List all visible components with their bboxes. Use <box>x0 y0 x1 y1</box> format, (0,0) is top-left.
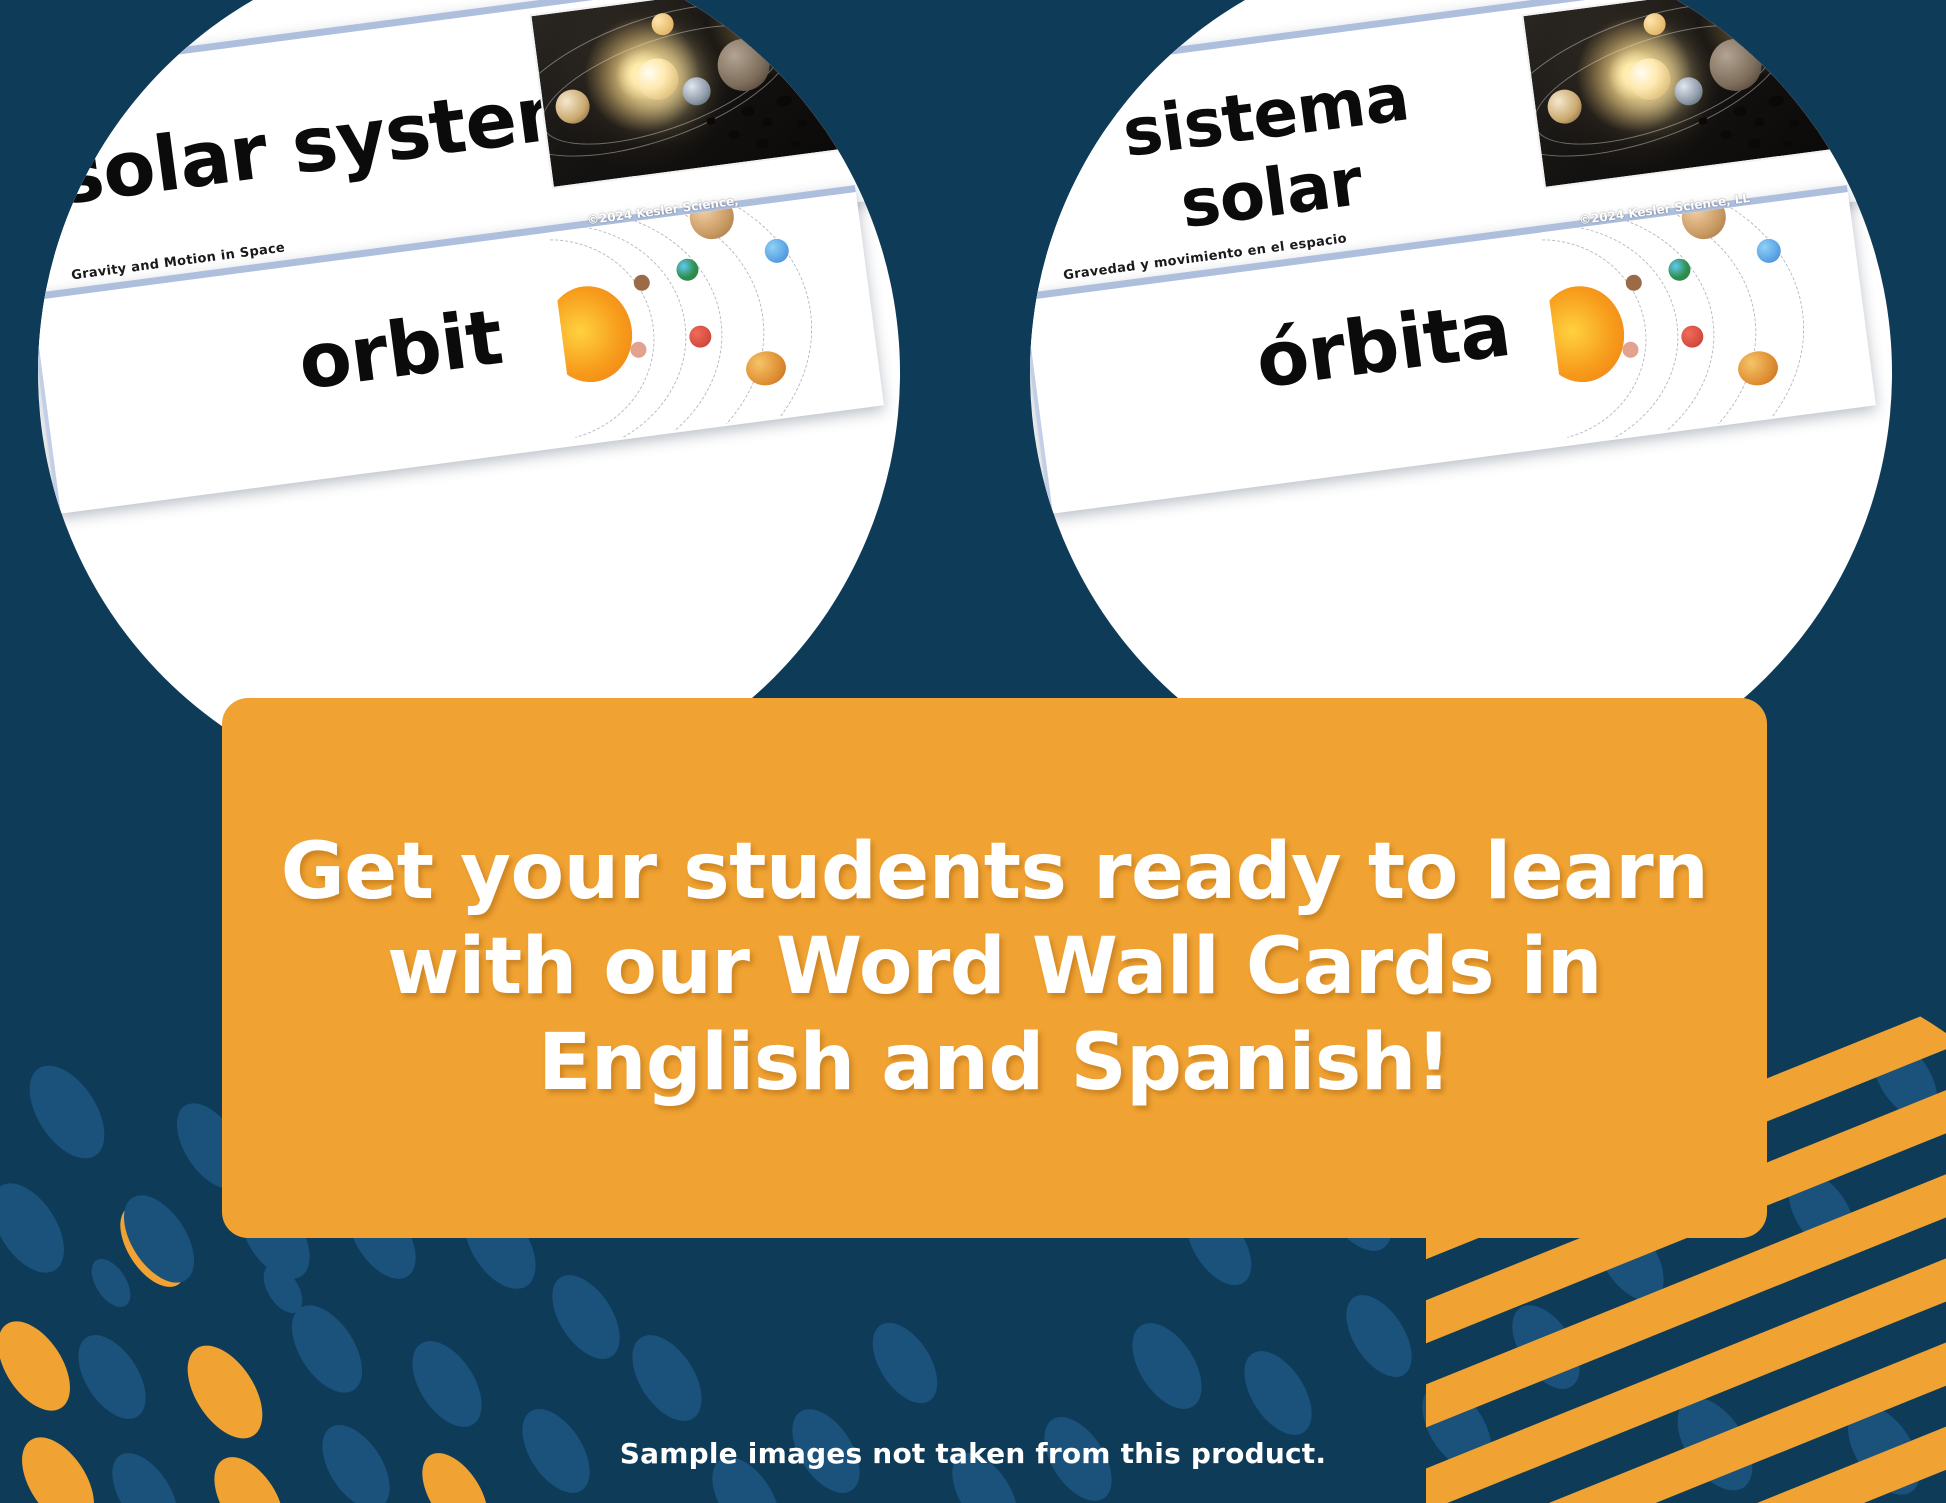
corner-stripe <box>1426 1364 1946 1503</box>
disclaimer-text: Sample images not taken from this produc… <box>0 1437 1946 1470</box>
confetti-ellipse <box>14 1053 119 1172</box>
confetti-ellipse <box>1118 1311 1216 1421</box>
headline-text: Get your students ready to learn with ou… <box>241 825 1748 1110</box>
spanish-sample-photo-circle: sistema solar <box>1030 0 1892 804</box>
english-word-solar-system: solar system <box>53 63 600 222</box>
confetti-ellipse <box>0 1309 85 1423</box>
english-word-orbit: orbit <box>293 292 507 407</box>
confetti-ellipse <box>110 1183 209 1295</box>
confetti-ellipse <box>65 1323 160 1430</box>
promo-graphic: solar system <box>0 0 1946 1503</box>
confetti-ellipse <box>1860 1028 1946 1131</box>
confetti-ellipse <box>84 1252 139 1314</box>
solar-system-photo <box>1521 0 1845 189</box>
headline-line-1: Get your students ready to learn <box>281 825 1708 920</box>
confetti-ellipse <box>1333 1284 1425 1388</box>
headline-panel: Get your students ready to learn with ou… <box>222 698 1767 1238</box>
confetti-ellipse <box>618 1323 716 1433</box>
confetti-ellipse <box>860 1312 951 1415</box>
headline-line-2: with our Word Wall Cards in <box>281 920 1708 1015</box>
confetti-ellipse <box>0 1171 79 1285</box>
confetti-ellipse <box>172 1333 277 1452</box>
confetti-ellipse <box>539 1263 634 1370</box>
confetti-ellipse <box>278 1293 377 1405</box>
confetti-ellipse <box>1499 1293 1594 1400</box>
corner-stripe <box>1426 1292 1946 1503</box>
confetti-ellipse <box>107 1194 199 1298</box>
confetti-ellipse <box>1231 1339 1326 1446</box>
confetti-ellipse <box>256 1258 311 1320</box>
solar-system-photo <box>529 0 853 189</box>
orbit-diagram <box>1540 192 1875 444</box>
english-sample-photo-circle: solar system <box>38 0 900 804</box>
spanish-word-orbita: órbita <box>1251 284 1515 405</box>
orbit-diagram <box>548 192 883 444</box>
headline-line-3: English and Spanish! <box>281 1016 1708 1111</box>
confetti-ellipse <box>398 1329 496 1439</box>
confetti-ellipse <box>1775 1159 1870 1266</box>
